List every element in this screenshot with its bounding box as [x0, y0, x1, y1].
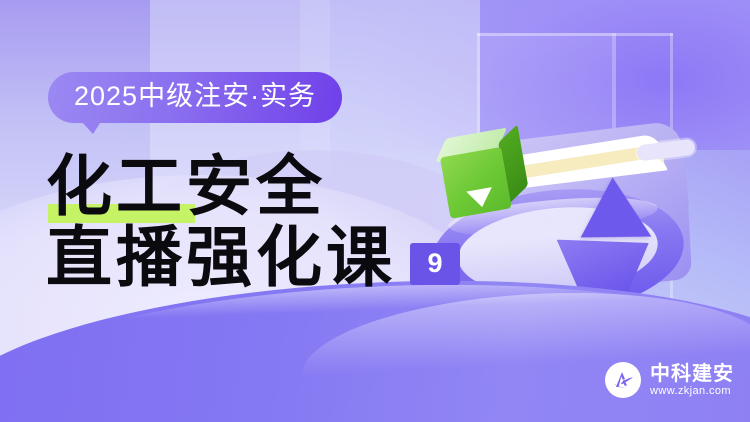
- brand-name: 中科建安: [650, 364, 734, 384]
- title-row-2: 直播强化课 9: [46, 223, 460, 294]
- zhongke-jianan-circle-logo-icon: [605, 362, 641, 398]
- episode-number-badge: 9: [410, 243, 460, 285]
- course-title-line-2: 直播强化课: [46, 223, 396, 294]
- badge-tail: [80, 120, 102, 134]
- course-category-badge: 2025中级注安·实务: [48, 72, 342, 123]
- background-pane-top-edge: [477, 33, 673, 36]
- brand-logo[interactable]: 中科建安 www.zkjan.com: [605, 362, 734, 398]
- course-title-line-1: 化工安全: [46, 152, 326, 223]
- course-banner: 2025中级注安·实务 化工安全 直播强化课 9 中科建安 www.zkjan.…: [0, 0, 750, 422]
- brand-url: www.zkjan.com: [650, 386, 734, 397]
- course-category-label: 2025中级注安·实务: [48, 72, 342, 123]
- title-row-1: 化工安全: [46, 152, 460, 223]
- brand-logo-text: 中科建安 www.zkjan.com: [650, 364, 734, 397]
- play-triangle-icon: [466, 187, 495, 209]
- title-block: 化工安全 直播强化课 9: [46, 152, 460, 295]
